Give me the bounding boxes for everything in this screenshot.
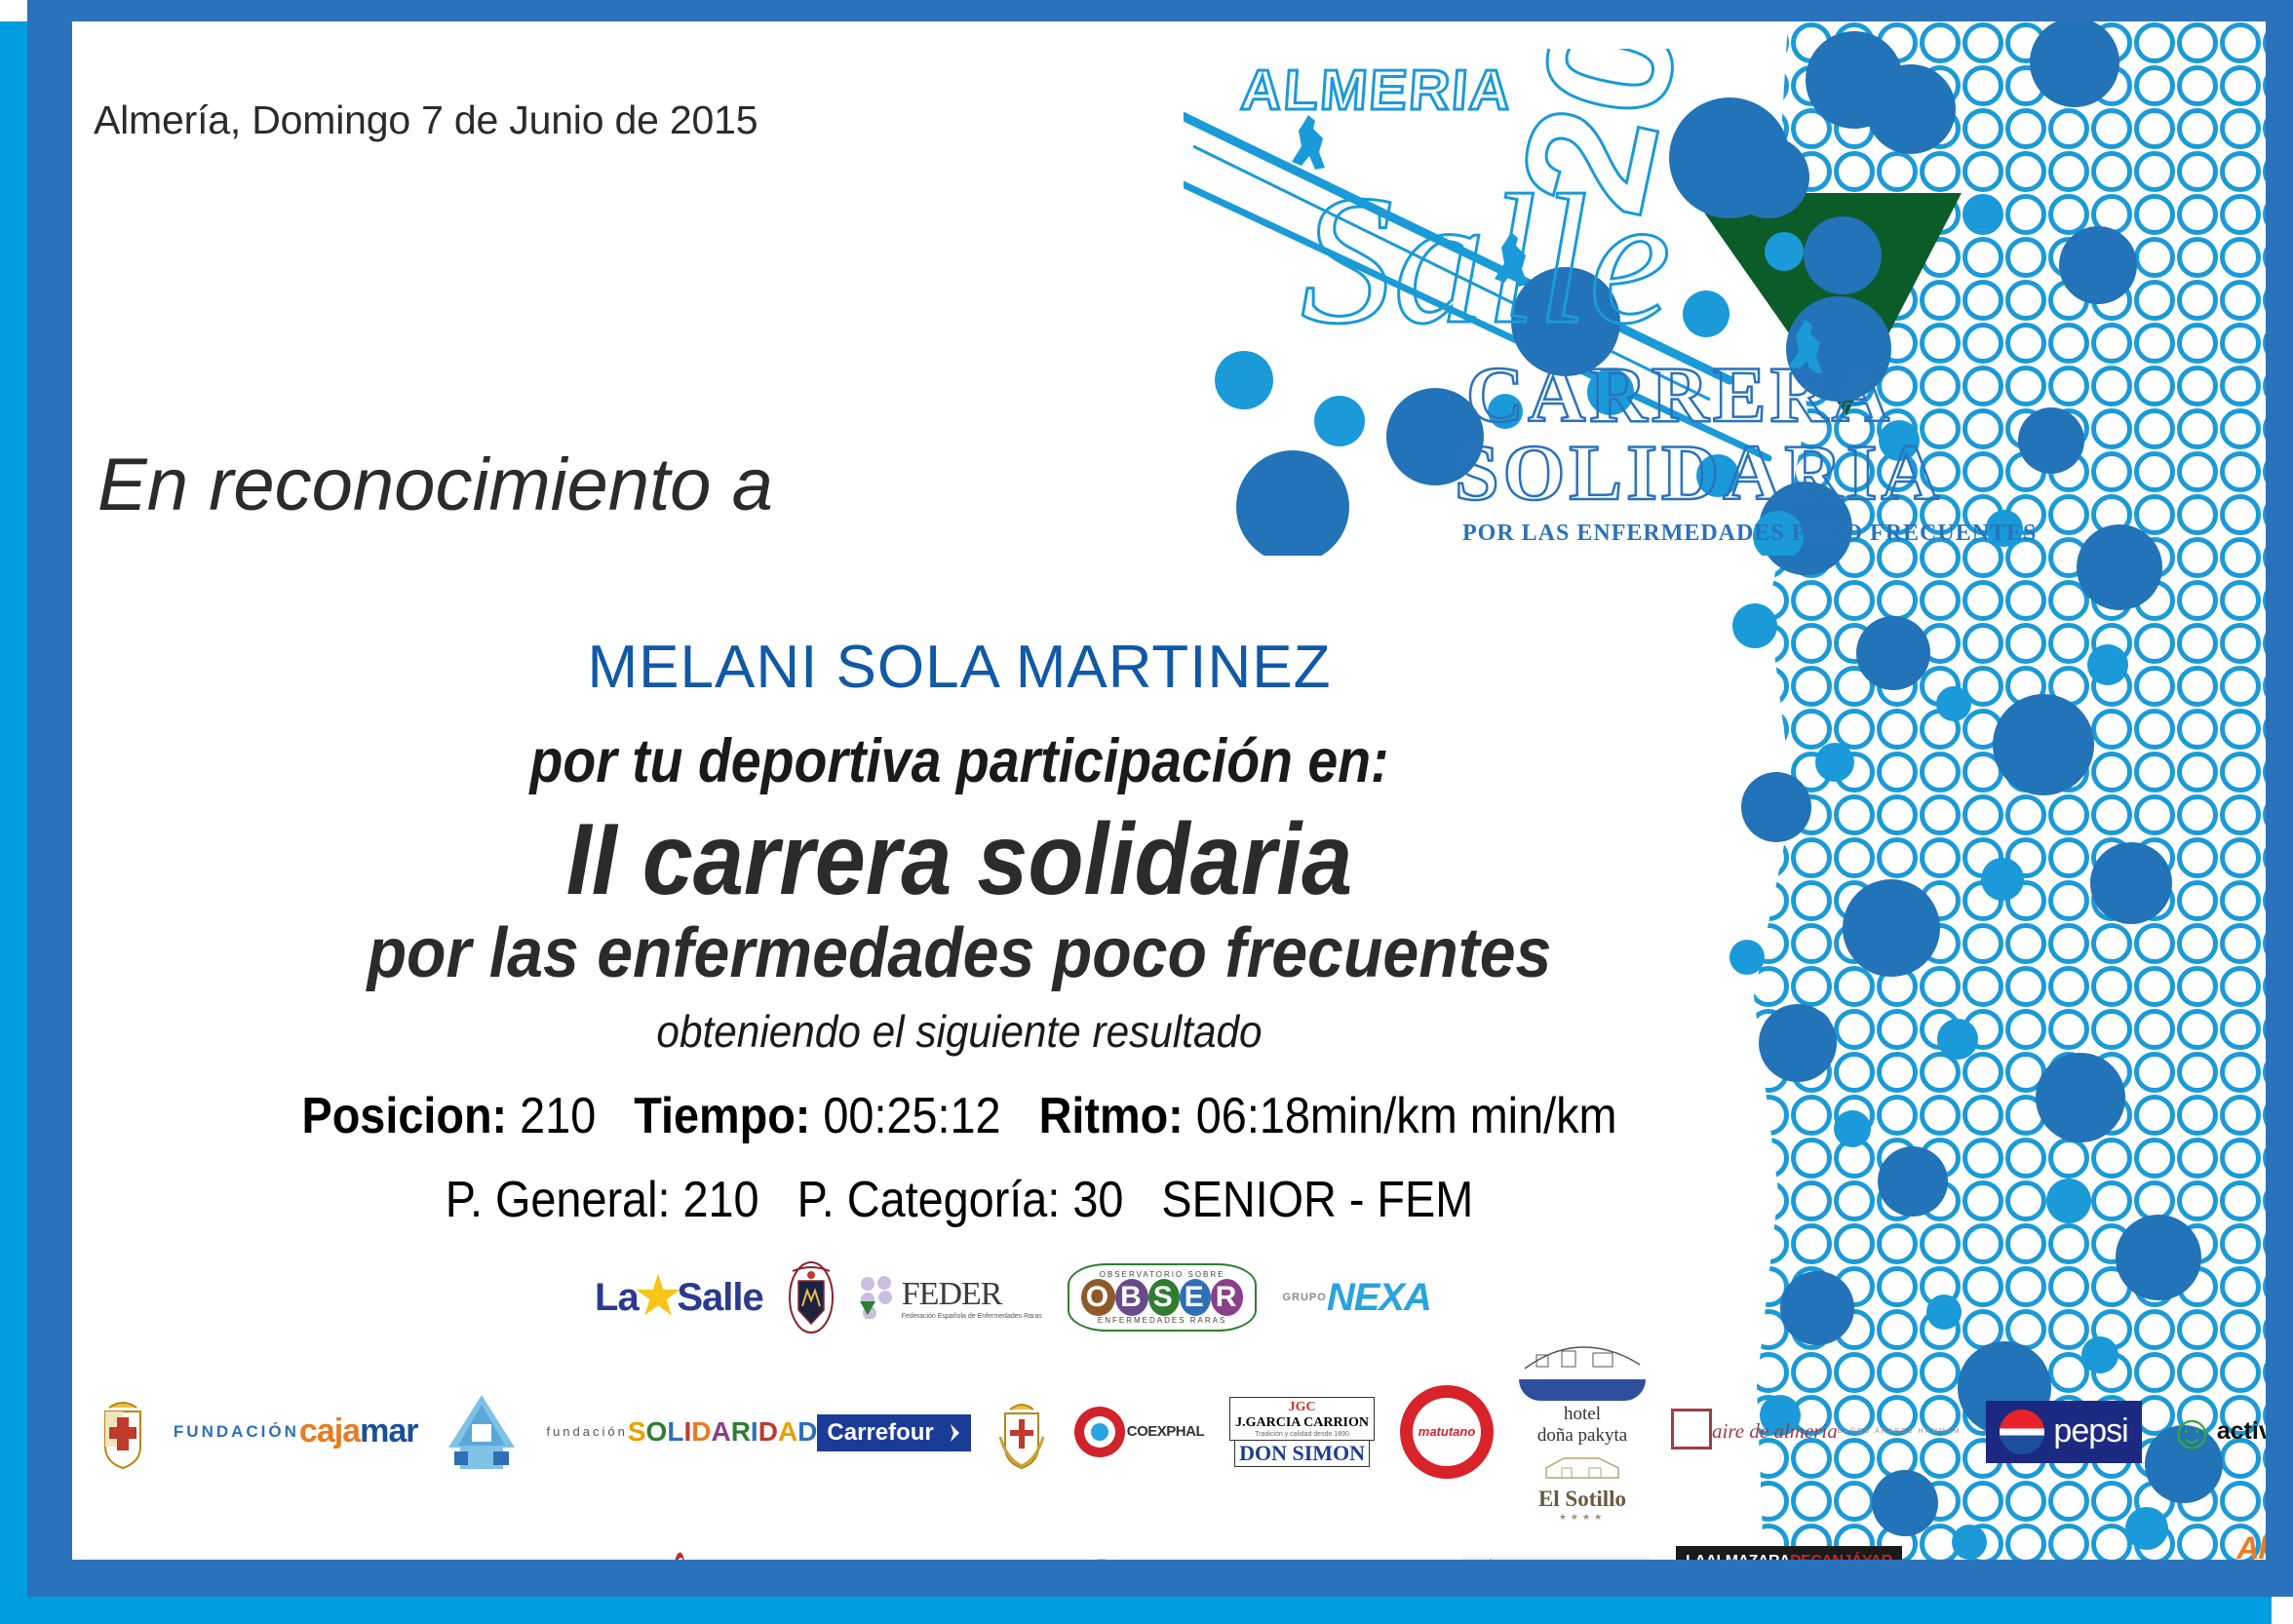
pcategoria-label: P. Categoría: [797, 1172, 1061, 1228]
la-salle-la: La [595, 1276, 639, 1320]
pcategoria-value: 30 [1072, 1172, 1123, 1228]
pgeneral-label: P. General: [446, 1172, 671, 1228]
star-icon: ★ [636, 1277, 680, 1318]
cortijo-icon [1538, 1452, 1626, 1482]
house-icon [443, 1391, 521, 1473]
jgc-sub: Tradición y calidad desde 1890 [1235, 1431, 1369, 1438]
jgc-top: JGC [1235, 1400, 1369, 1415]
feder-sub: Federación Española de Enfermedades Rara… [902, 1313, 1042, 1320]
sotillo-label: El Sotillo [1538, 1487, 1626, 1512]
sponsor-casa-logo [443, 1391, 521, 1473]
sponsor-row-2: DIPUTACIÓN DE ALMERÍA FUNDACIÓN [238, 1341, 1788, 1523]
sponsor-garcia-carrion-don-simon: JGC J.GARCIA CARRION Tradición y calidad… [1229, 1397, 1375, 1467]
aire-label: aire de almeria [1712, 1419, 1838, 1444]
crest-icon [789, 1261, 834, 1334]
participant-name: MELANI SOLA MARTINEZ [72, 636, 1846, 699]
laalmazara-label: LAALMAZARADECANJÁYAR [1676, 1546, 1902, 1560]
sponsor-grupo-nexa: GRUPO NEXA [1282, 1276, 1430, 1320]
posicion-label: Posicion: [302, 1088, 508, 1144]
certificate-page: ALMERIA 2015 Salle CARRERA SOLIDARIA POR… [72, 21, 2266, 1560]
sponsor-ayuntamiento-crest [97, 1394, 148, 1470]
logo-line2: SOLIDARIA [1455, 428, 1943, 517]
race-title: II carrera solidaria [161, 806, 1758, 913]
carrefour-label: Carrefour [827, 1419, 933, 1447]
sotillo-stars: ★★★★ [1538, 1512, 1626, 1523]
sponsor-aire-de-almeria: aire de almeria BAÑOS ÁRABES HAMMAM [1671, 1409, 1961, 1454]
main-text-column: MELANI SOLA MARTINEZ por tu deportiva pa… [72, 636, 1846, 1229]
sponsor-fundacion-cajamar: FUNDACIÓN cajamar [174, 1412, 418, 1450]
activa-label: activaclub [2217, 1417, 2266, 1446]
logo-brand: Salle [1301, 158, 1671, 363]
carrefour-solidaridad: SOLIDARIDAD [628, 1416, 818, 1448]
sponsor-aitec-cde: AI-Tec CDE [2236, 1530, 2266, 1560]
pakyta-arc [1519, 1379, 1646, 1401]
sponsor-hotel-dona-pakyta: hotel doña pakyta El Sotillo ★★★★ [1519, 1341, 1646, 1523]
coexphal-icon [1072, 1405, 1127, 1459]
matutano-label: matutano [1413, 1398, 1481, 1466]
carrefour-box: Carrefour [817, 1414, 970, 1451]
carrefour-icon [940, 1422, 961, 1444]
sponsor-row-3: ✚ Cruz Roja COSENTINO GRUPO RENTA TODO Ⓜ [238, 1530, 1788, 1560]
obser-bottom: ENFERMEDADES RARAS [1081, 1316, 1244, 1325]
sponsor-fundacion-solidaridad-carrefour: fundación SOLIDARIDAD Carrefour [546, 1411, 970, 1451]
obser-top: OBSERVATORIO SOBRE [1081, 1270, 1244, 1279]
jgc-label: J.GARCIA CARRION [1235, 1415, 1369, 1431]
ritmo-label: Ritmo: [1039, 1088, 1184, 1144]
date-line: Almería, Domingo 7 de Junio de 2015 [94, 97, 758, 143]
sponsor-logos: La ★ Salle [238, 1261, 1788, 1560]
pakyta-label2: doña pakyta [1519, 1425, 1646, 1447]
pepsi-label: pepsi [2053, 1412, 2127, 1450]
aire-icon [1671, 1409, 1712, 1450]
result-line-secondary: P. General: 210 P. Categoría: 30 SENIOR … [161, 1171, 1758, 1229]
obser-label: OBSER [1081, 1279, 1244, 1316]
feder-label: FEDER [902, 1276, 1042, 1313]
murgiverde-icon [1467, 1559, 1514, 1560]
result-intro: obteniendo el siguiente resultado [143, 1005, 1775, 1058]
tiempo-label: Tiempo: [634, 1088, 810, 1144]
posicion-value: 210 [520, 1088, 596, 1144]
la-salle-salle: Salle [677, 1276, 762, 1320]
participation-line: por tu deportiva participación en: [178, 726, 1740, 796]
sponsor-murgiverde: Murgiverde [1462, 1557, 1651, 1560]
sponsor-la-salle: La ★ Salle [595, 1276, 763, 1320]
carrefour-fundacion: fundación [546, 1424, 627, 1439]
arc-icon [1061, 1558, 1143, 1560]
sponsor-matutano: matutano [1400, 1385, 1494, 1479]
pepsi-icon [2000, 1410, 2044, 1454]
aitec-label: AI-Tec [2236, 1530, 2266, 1560]
sponsor-pepsi: pepsi [1986, 1401, 2141, 1463]
sponsor-row-1: La ★ Salle [238, 1261, 1788, 1334]
race-subtitle: por las enfermedades poco frecuentes [143, 915, 1775, 992]
pgeneral-value: 210 [683, 1172, 759, 1228]
logo-line1: CARRERA [1466, 350, 1893, 439]
sponsor-coexphal: COEXPHAL [1072, 1405, 1204, 1459]
tiempo-value: 00:25:12 [823, 1088, 1000, 1144]
ritmo-value: 06:18min/km min/km [1196, 1088, 1617, 1144]
pakyta-label: hotel [1519, 1404, 1646, 1425]
feder-dots-icon [859, 1276, 898, 1319]
crest-icon [996, 1394, 1047, 1470]
logo-city: ALMERIA [1239, 58, 1515, 122]
nexa-label: NEXA [1327, 1276, 1431, 1320]
sponsor-la-salle-crest [789, 1261, 834, 1334]
result-line-primary: Posicion: 210 Tiempo: 00:25:12 Ritmo: 06… [161, 1087, 1758, 1145]
sponsor-activaclub: ☺ activaclub [2167, 1412, 2266, 1451]
coexphal-label: COEXPHAL [1127, 1423, 1204, 1440]
sponsor-obser: OBSERVATORIO SOBRE OBSER ENFERMEDADES RA… [1068, 1263, 1258, 1332]
person-icon: ☺ [2167, 1412, 2217, 1451]
categoria-name: SENIOR - FEM [1161, 1172, 1473, 1228]
cajamar-top: FUNDACIÓN [174, 1422, 299, 1442]
event-logo: ALMERIA 2015 Salle CARRERA SOLIDARIA POR… [1184, 49, 2041, 556]
logo-tagline: POR LAS ENFERMEDADES POCO FRECUENTES [1462, 521, 2037, 546]
certificate: ALMERIA 2015 Salle CARRERA SOLIDARIA POR… [0, 0, 2293, 1624]
building-icon [1519, 1341, 1646, 1374]
recognition-text: En reconocimiento a [97, 443, 773, 527]
cajamar-label: cajamar [299, 1412, 418, 1450]
sponsor-arcos-icon [1061, 1558, 1143, 1560]
sponsor-feder: FEDER Federación Española de Enfermedade… [859, 1276, 1042, 1320]
sponsor-laalmazara-patricia: LAALMAZARADECANJÁYAR PATRICIA ROSALES MA… [1675, 1546, 1902, 1560]
crest-icon [97, 1394, 148, 1470]
sponsor-escudo-almeria [996, 1394, 1047, 1470]
nexa-top: GRUPO [1282, 1292, 1326, 1303]
don-simon-label: DON SIMON [1239, 1443, 1365, 1464]
aire-sub: BAÑOS ÁRABES HAMMAM [1838, 1428, 1962, 1435]
